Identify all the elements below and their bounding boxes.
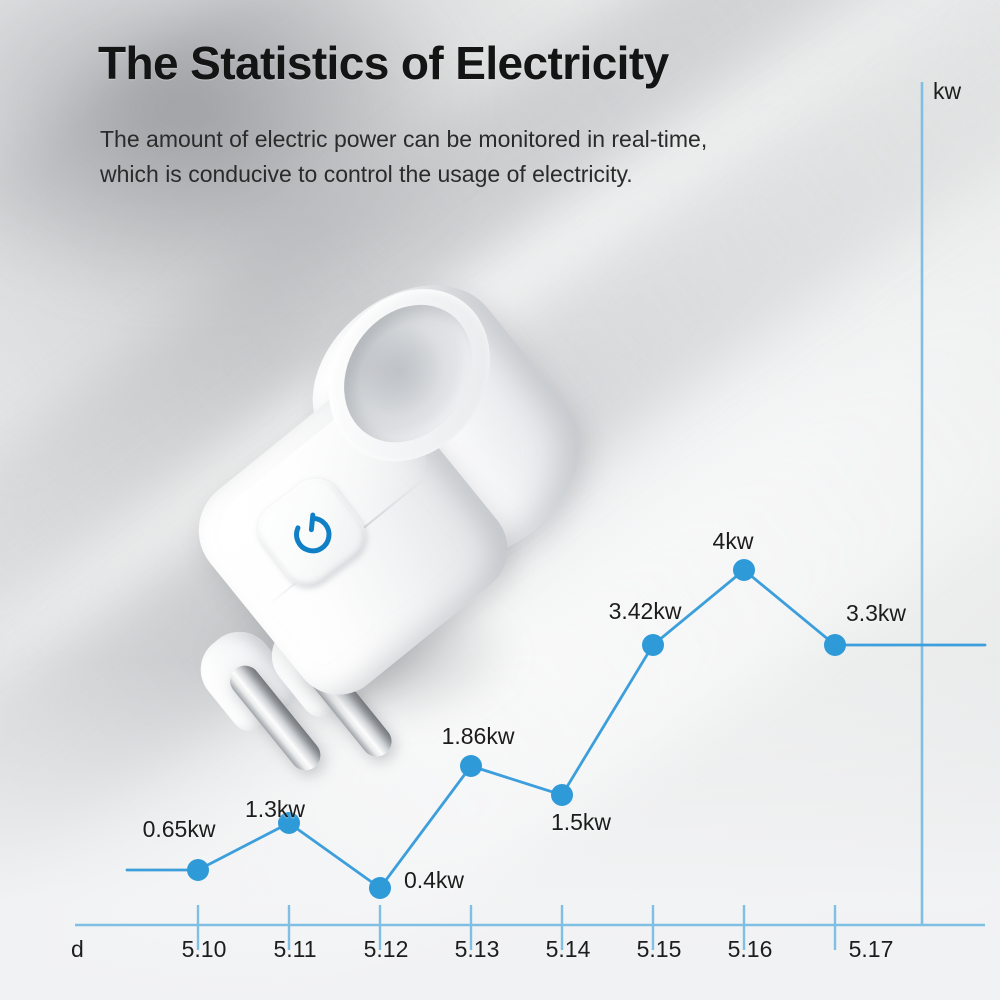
subtitle-line-1: The amount of electric power can be moni… [100, 122, 920, 157]
promo-image: The Statistics of Electricity The amount… [0, 0, 1000, 1000]
smart-plug-product-image [80, 225, 640, 770]
power-icon [275, 496, 348, 569]
subtitle-line-2: which is conducive to control the usage … [100, 157, 920, 192]
page-title: The Statistics of Electricity [98, 36, 669, 90]
page-subtitle: The amount of electric power can be moni… [100, 122, 920, 192]
